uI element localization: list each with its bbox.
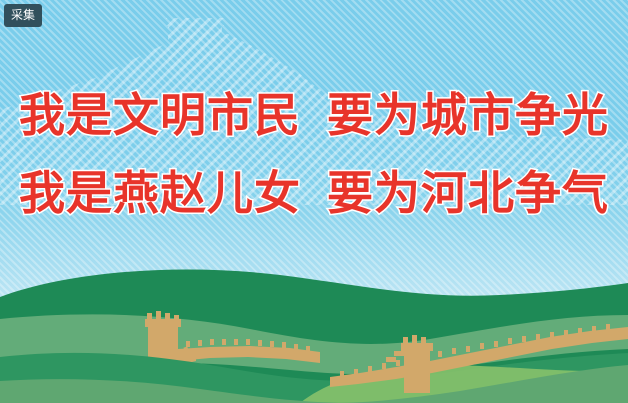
slogan-block: 我是文明市民 要为城市争光 我是燕赵儿女 要为河北争气 [0, 92, 628, 248]
slogan-line-2: 我是燕赵儿女 要为河北争气 [0, 170, 628, 248]
slogan-line-1-left: 我是文明市民 [19, 92, 301, 138]
slogan-line-2-right: 要为河北争气 [327, 170, 609, 216]
capture-button[interactable]: 采集 [4, 4, 42, 27]
poster-image: 我是文明市民 要为城市争光 我是燕赵儿女 要为河北争气 [0, 0, 628, 403]
slogan-line-1: 我是文明市民 要为城市争光 [0, 92, 628, 170]
slogan-line-1-right: 要为城市争光 [327, 92, 609, 138]
landscape-hills [0, 253, 628, 403]
slogan-line-2-left: 我是燕赵儿女 [19, 170, 301, 216]
